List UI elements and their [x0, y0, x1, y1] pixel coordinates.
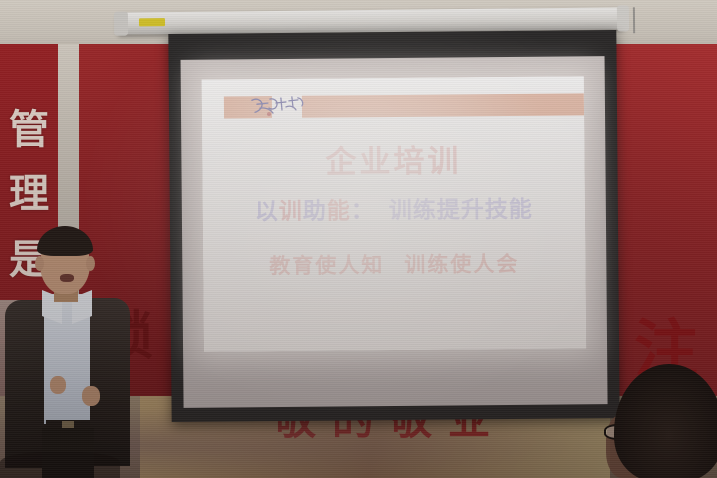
left-banner-char-1: 管 — [0, 110, 58, 150]
calligraphic-brand-logo — [248, 94, 310, 121]
projection-screen-frame: 企业培训 以训助能：训练提升技能 教育使人知训练使人会 — [168, 30, 619, 422]
subtitle-seg-5: ： — [351, 197, 375, 224]
presentation-slide: 企业培训 以训助能：训练提升技能 教育使人知训练使人会 — [202, 76, 586, 351]
presentation-photo: 管 理 是 一 锁 注 敬的敬业 — [0, 0, 717, 478]
subtitle-seg-4: 能 — [327, 197, 351, 224]
slide-title: 企业培训 — [202, 134, 584, 182]
subtitle-seg-3: 助 — [303, 198, 327, 225]
header-band-right — [302, 93, 584, 117]
slide-body-line: 教育使人知训练使人会 — [203, 247, 585, 280]
body-right-phrase: 训练使人会 — [404, 251, 519, 277]
roller-cap-left — [114, 12, 128, 36]
roller-sticker-label — [139, 18, 165, 26]
roller-cap-right — [617, 5, 629, 31]
slide-header-band — [202, 93, 584, 118]
slide-subtitle-line: 以训助能：训练提升技能 — [203, 189, 585, 226]
projection-screen-surface: 企业培训 以训助能：训练提升技能 教育使人知训练使人会 — [181, 56, 608, 408]
subtitle-seg-2: 训 — [279, 198, 303, 225]
body-left-phrase: 教育使人知 — [269, 252, 384, 278]
presenter-hand-left — [50, 376, 66, 394]
roller-cord[interactable] — [633, 7, 635, 33]
presenter — [2, 228, 132, 478]
audience-head-bottom-left — [0, 452, 120, 478]
presenter-hair — [37, 226, 93, 256]
presenter-ear-right — [86, 256, 95, 271]
left-banner-char-2: 理 — [0, 174, 58, 214]
subtitle-seg-1: 以 — [255, 198, 279, 225]
projected-image-area: 企业培训 以训助能：训练提升技能 教育使人知训练使人会 — [202, 76, 586, 351]
subtitle-seg-6: 训练提升技能 — [389, 196, 533, 224]
presenter-hand-right — [82, 386, 100, 406]
presenter-mouth — [60, 274, 74, 282]
presenter-ear-left — [35, 256, 44, 271]
